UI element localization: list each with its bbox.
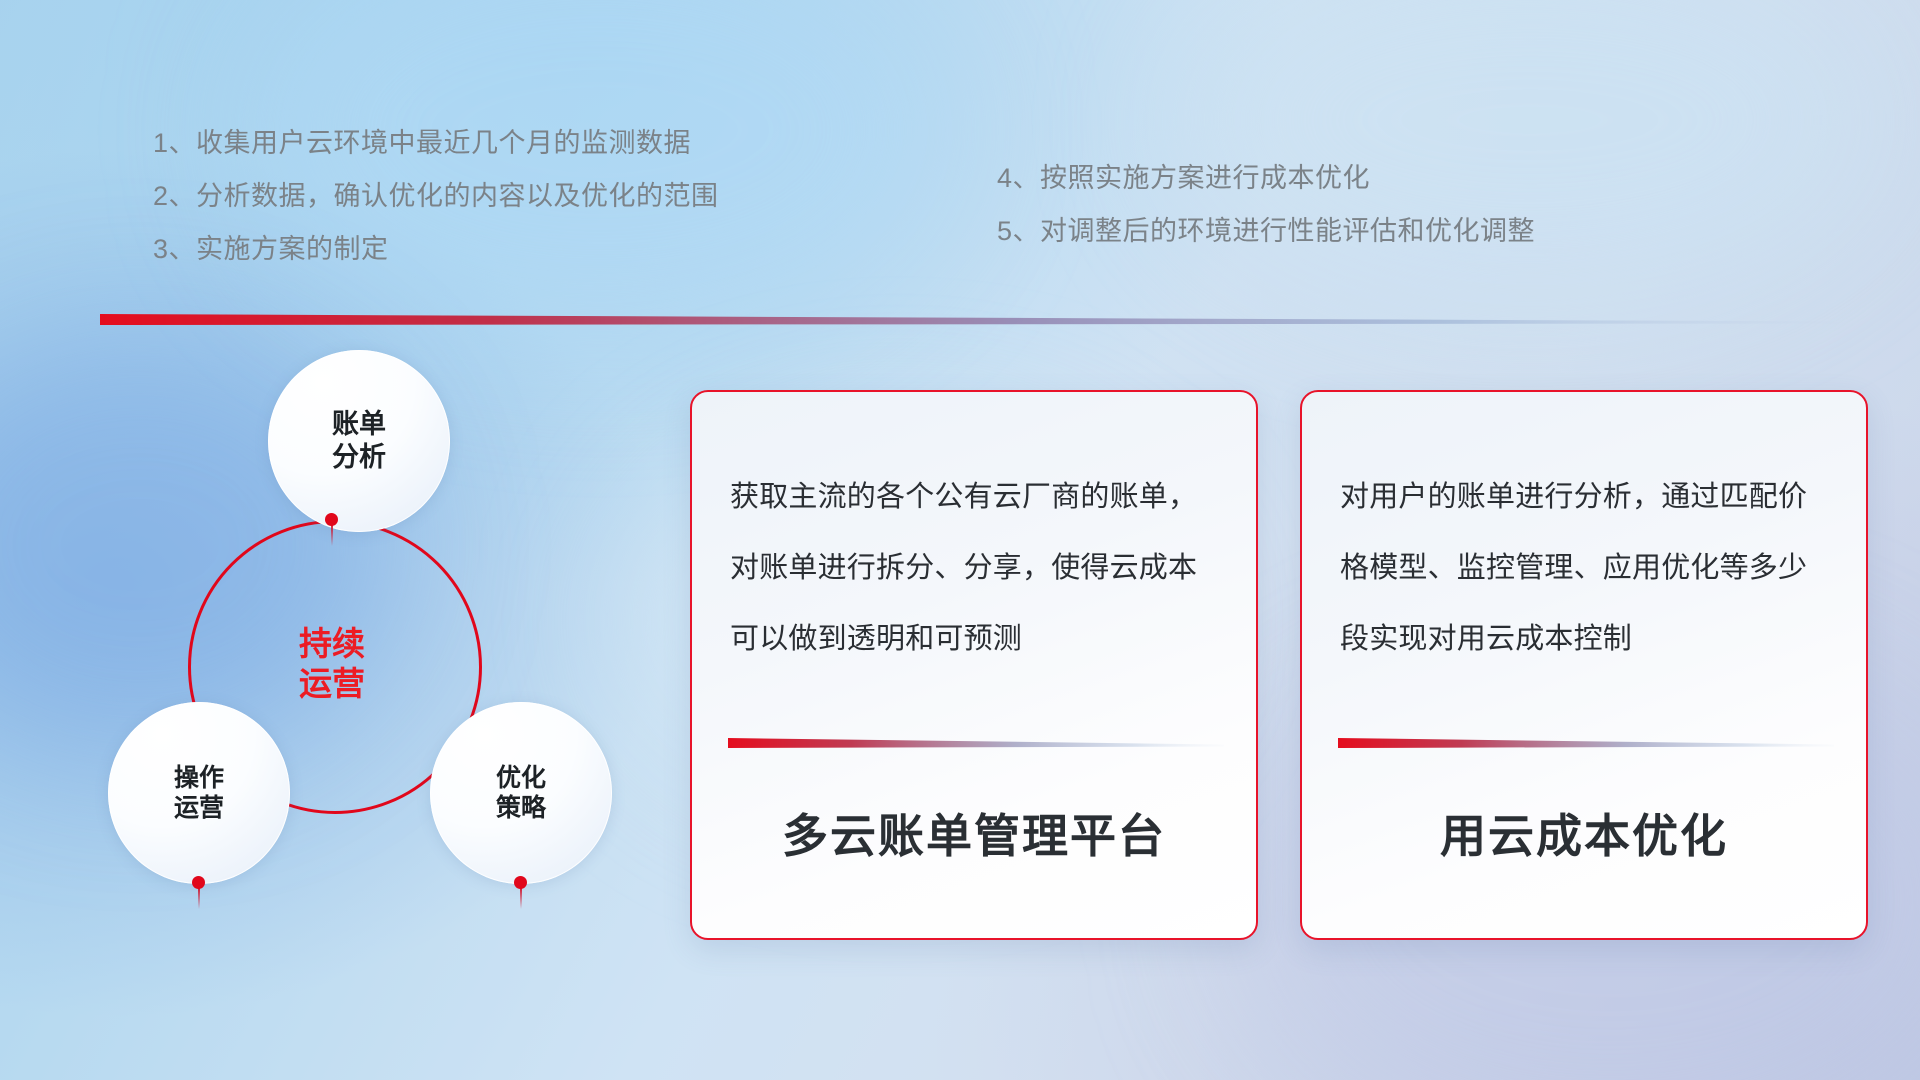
connector-tick-bottom-right (520, 887, 522, 909)
continuous-operation-diagram: 持续 运营 账单 分析 操作 运营 优化 策略 (100, 350, 660, 950)
steps-list-left: 1、收集用户云环境中最近几个月的监测数据 2、分析数据，确认优化的内容以及优化的… (153, 130, 719, 289)
step-item: 2、分析数据，确认优化的内容以及优化的范围 (153, 183, 719, 210)
card-body-text: 获取主流的各个公有云厂商的账单，对账单进行拆分、分享，使得云成本可以做到透明和可… (730, 462, 1226, 675)
step-item: 4、按照实施方案进行成本优化 (997, 165, 1535, 192)
card-divider (728, 737, 1224, 749)
step-item: 3、实施方案的制定 (153, 236, 719, 263)
bubble-label-line-1: 账单 (332, 408, 386, 441)
bubble-bill-analysis[interactable]: 账单 分析 (268, 350, 450, 532)
connector-tick-top (331, 524, 333, 546)
step-item: 5、对调整后的环境进行性能评估和优化调整 (997, 218, 1535, 245)
card-title: 用云成本优化 (1302, 800, 1866, 866)
center-label-line-2: 运营 (299, 664, 365, 704)
slide-canvas: 1、收集用户云环境中最近几个月的监测数据 2、分析数据，确认优化的内容以及优化的… (0, 0, 1920, 1080)
node-dot-top (325, 513, 338, 526)
bubble-label-line-2: 分析 (332, 441, 386, 474)
step-item: 1、收集用户云环境中最近几个月的监测数据 (153, 130, 719, 157)
bubble-label-line-1: 优化 (496, 763, 546, 794)
card-cloud-cost-optimization[interactable]: 对用户的账单进行分析，通过匹配价格模型、监控管理、应用优化等多少段实现对用云成本… (1300, 390, 1868, 940)
bubble-label-line-2: 策略 (496, 793, 546, 824)
card-divider (1338, 737, 1834, 749)
steps-list-right: 4、按照实施方案进行成本优化 5、对调整后的环境进行性能评估和优化调整 (997, 165, 1535, 271)
card-multicloud-billing[interactable]: 获取主流的各个公有云厂商的账单，对账单进行拆分、分享，使得云成本可以做到透明和可… (690, 390, 1258, 940)
section-divider (100, 312, 1860, 326)
center-label: 持续 运营 (188, 520, 476, 808)
node-dot-bottom-left (192, 876, 205, 889)
card-title: 多云账单管理平台 (692, 800, 1256, 866)
card-body-text: 对用户的账单进行分析，通过匹配价格模型、监控管理、应用优化等多少段实现对用云成本… (1340, 462, 1836, 675)
node-dot-bottom-right (514, 876, 527, 889)
center-label-line-1: 持续 (299, 624, 365, 664)
connector-tick-bottom-left (198, 887, 200, 909)
